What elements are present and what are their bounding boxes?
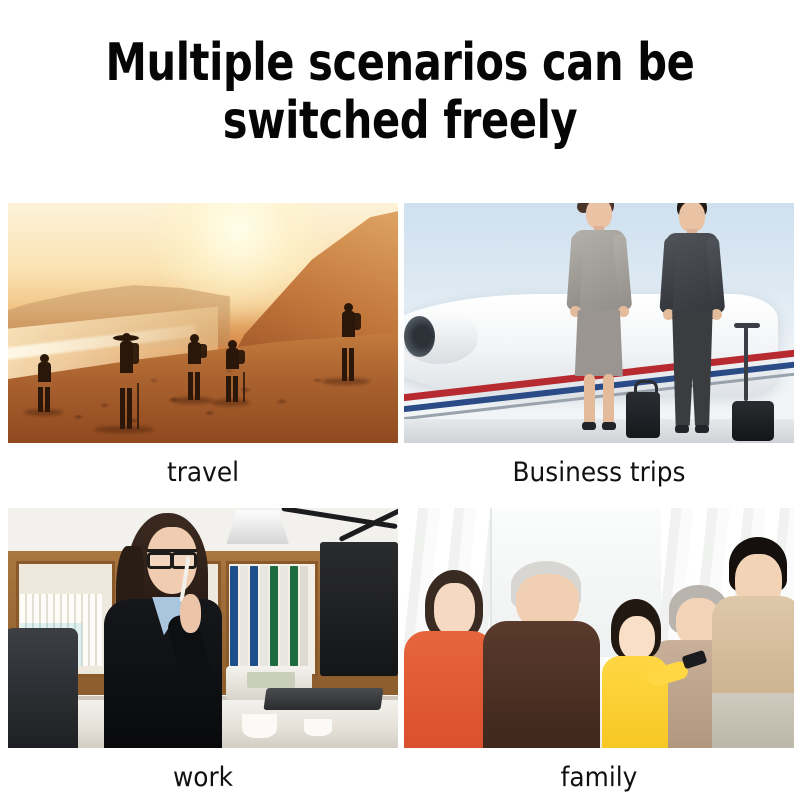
work-photo [8, 508, 398, 748]
scenario-caption-work: work [24, 762, 383, 794]
scenario-card-family[interactable]: family [404, 508, 794, 794]
hiker-silhouette [180, 334, 208, 400]
page-title-line-1: Multiple scenarios can be [80, 34, 720, 92]
ring-binders [230, 566, 308, 667]
family-member-father [716, 537, 794, 748]
travel-photo [8, 203, 398, 443]
engine-intake [404, 316, 435, 357]
scenario-caption-business-trips: Business trips [420, 457, 779, 489]
promo-page: Multiple scenarios can be switched freel… [0, 0, 800, 800]
hiker-silhouette [106, 333, 146, 429]
scenario-card-travel[interactable]: travel [8, 203, 398, 489]
office-worker [102, 508, 242, 748]
office-chair [8, 628, 78, 748]
coffee-cup [304, 719, 331, 736]
family-member-grandfather [490, 561, 607, 748]
scenario-caption-travel: travel [24, 457, 383, 489]
scenario-grid: travel [0, 203, 800, 763]
hiker-silhouette [31, 354, 57, 412]
scenario-caption-family: family [420, 762, 779, 794]
coffee-cup [242, 714, 277, 738]
page-title: Multiple scenarios can be switched freel… [80, 34, 720, 150]
computer-monitor [320, 542, 398, 676]
hiker-silhouette [332, 303, 364, 381]
businesswoman-grey-suit [568, 203, 630, 438]
scenario-card-business-trips[interactable]: Business trips [404, 203, 794, 489]
hiker-silhouette [219, 340, 245, 402]
page-title-line-2: switched freely [80, 92, 720, 150]
family-photo [404, 508, 794, 748]
rolling-suitcase [732, 401, 774, 441]
business-trips-photo [404, 203, 794, 443]
keyboard [264, 688, 384, 710]
scenario-card-work[interactable]: work [8, 508, 398, 794]
briefcase [626, 392, 660, 438]
businesswoman-dark-suit [661, 203, 723, 441]
family-member-girl [599, 599, 677, 748]
